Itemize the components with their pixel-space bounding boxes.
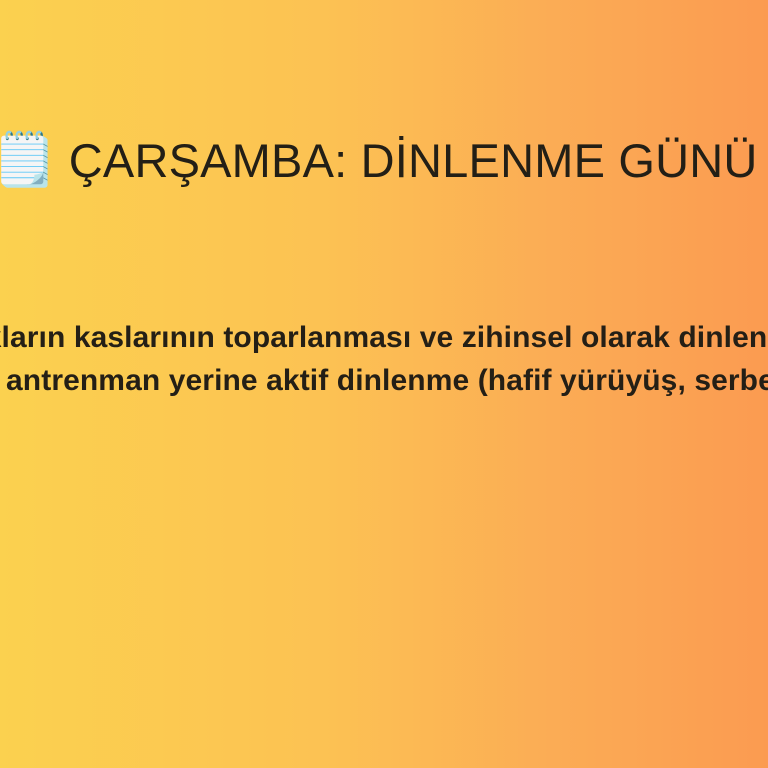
slide-title-row: 🗒️ ÇARŞAMBA: DİNLENME GÜNÜ 🧘 xyxy=(0,126,768,194)
body-paragraph-line: Bu gün çocukların kaslarının toparlanmas… xyxy=(0,318,768,358)
page-title: ÇARŞAMBA: DİNLENME GÜNÜ xyxy=(69,137,758,184)
spiral-notepad-icon: 🗒️ xyxy=(0,134,57,186)
slide-body: Bu gün çocukların kaslarının toparlanmas… xyxy=(0,318,768,414)
body-paragraph-line: Yoğun antrenman yerine aktif dinlenme (h… xyxy=(0,361,768,401)
slide-canvas: 🗒️ ÇARŞAMBA: DİNLENME GÜNÜ 🧘 Bu gün çocu… xyxy=(0,0,768,768)
